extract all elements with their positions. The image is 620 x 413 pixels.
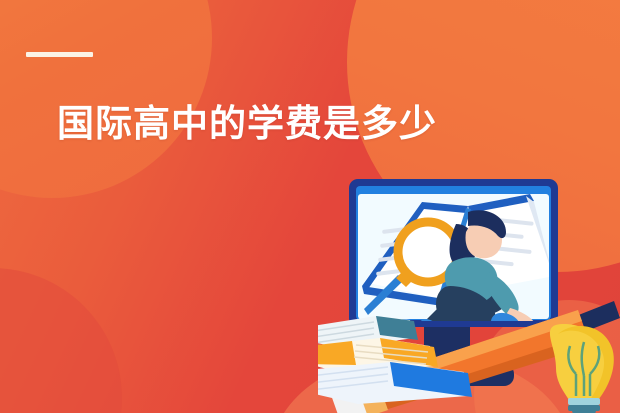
accent-rule: [26, 52, 93, 57]
illustration-student-studying: [318, 168, 620, 413]
promo-banner: 国际高中的学费是多少: [0, 0, 620, 413]
page-title: 国际高中的学费是多少: [57, 104, 437, 144]
lightbulb-icon: [550, 324, 614, 413]
